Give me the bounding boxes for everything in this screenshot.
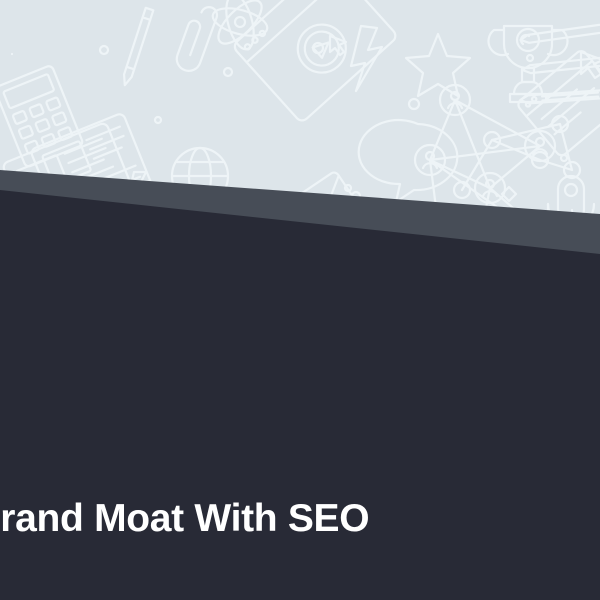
card-content: Morgan aylor d a Strong Brand Moat With … — [0, 0, 600, 600]
social-share-card: Morgan aylor d a Strong Brand Moat With … — [0, 0, 600, 600]
page-title: d a Strong Brand Moat With SEO — [0, 495, 600, 543]
